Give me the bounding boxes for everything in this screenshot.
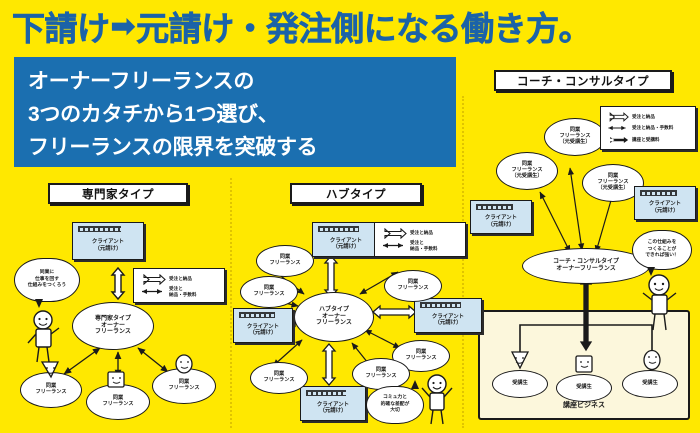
- hub-bubble-line3: 大切: [390, 408, 400, 414]
- hub-legend: 受注と納品 受注と 納品・手数料: [374, 222, 466, 257]
- hub-peer-node-6: 同業 フリーランス: [250, 362, 308, 394]
- infographic-page: 下請け➡元請け・発注側になる働き方。 オーナーフリーランスの 3つのカタチから1…: [0, 0, 700, 433]
- coach-legend-label-2: 受注と納品・手数料: [632, 125, 673, 131]
- coach-peer-3-line3: （元受講生）: [597, 186, 628, 192]
- section-chip-expert: 専門家タイプ: [48, 183, 188, 204]
- expert-stick-figure-icon: [26, 310, 66, 368]
- hub-peer-5-line2: フリーランス: [365, 374, 396, 380]
- section-divider-right: [462, 96, 464, 428]
- solid-double-arrow-icon: [605, 135, 629, 145]
- expert-peer-1-line2: フリーランス: [35, 390, 66, 396]
- coach-client-right-line2: （元請け）: [652, 208, 679, 214]
- legend-row-line: 受注と納品・手数料: [605, 123, 691, 133]
- coach-legend-label-3: 講座と受講料: [632, 137, 660, 143]
- expert-peer-node-3: 同業 フリーランス: [152, 368, 216, 404]
- hub-center-line1: ハブタイプ: [319, 307, 349, 314]
- expert-peer-3-line2: フリーランス: [168, 386, 199, 392]
- hub-speech-bubble: コミュ力と 的確な差配が 大切: [366, 386, 424, 424]
- student-node-1: 受講生: [492, 370, 548, 398]
- expert-speech-bubble: 同業に 仕事を回す 仕組みをつくろう: [14, 258, 80, 302]
- expert-center-line1: 専門家タイプ: [95, 316, 131, 323]
- hub-peer-2-line2: フリーランス: [253, 292, 284, 298]
- coach-center-line2: オーナーフリーランス: [556, 266, 616, 273]
- section-divider-left: [230, 178, 232, 428]
- coach-client-left-line2: （元請け）: [488, 222, 515, 228]
- expert-peer-2-line2: フリーランス: [102, 402, 133, 408]
- hub-client-node-top: クライアント （元請け）: [312, 222, 380, 257]
- coach-peer-1-line3: （元受講生）: [559, 140, 590, 146]
- student-3-label: 受講生: [642, 381, 658, 387]
- hub-peer-3-line2: フリーランス: [397, 286, 428, 292]
- subtitle-line-1: オーナーフリーランスの: [28, 65, 444, 98]
- coach-bubble-line3: できれば強い！: [645, 253, 679, 259]
- coach-peer-node-2: 同業 フリーランス （元受講生）: [496, 152, 558, 190]
- hub-peer-node-3: 同業 フリーランス: [384, 270, 442, 302]
- subtitle-panel: オーナーフリーランスの 3つのカタチから1つ選び、 フリーランスの限界を突破する: [14, 57, 456, 167]
- expert-client-line2: （元請け）: [95, 246, 122, 252]
- student-node-2: 受講生: [556, 374, 612, 402]
- hub-stick-figure-icon: [418, 372, 456, 428]
- hub-client-node-right: クライアント （元請け）: [414, 298, 482, 333]
- hub-client-right-line2: （元請け）: [435, 320, 462, 326]
- hub-peer-node-2: 同業 フリーランス: [240, 276, 298, 308]
- coach-legend: 受注と納品 受注と納品・手数料 講座と受講料: [600, 106, 696, 150]
- expert-client-node: クライアント （元請け）: [72, 222, 144, 260]
- legend-row-solid: 講座と受講料: [605, 135, 691, 145]
- subtitle-line-2: 3つのカタチから1つ選び、: [28, 98, 444, 131]
- course-business-label: 講座ビジネス: [478, 400, 690, 410]
- arrow-coach-peer2: [570, 168, 582, 250]
- coach-stick-figure-icon: [638, 272, 680, 334]
- section-chip-coach: コーチ・コンサルタイプ: [494, 70, 672, 91]
- hub-center-line3: フリーランス: [316, 320, 352, 327]
- coach-center-node: コーチ・コンサルタイプ オーナーフリーランス: [522, 248, 650, 284]
- hub-peer-4-line2: フリーランス: [405, 356, 436, 362]
- hub-client-node-bottom: クライアント （元請け）: [300, 386, 366, 421]
- expert-bubble-line3: 仕組みをつくろう: [28, 283, 66, 289]
- arrow-expert-peer3: [138, 348, 168, 372]
- student-1-label: 受講生: [512, 381, 528, 387]
- coach-peer-node-1: 同業 フリーランス （元受講生）: [544, 118, 606, 156]
- legend-label-1: 受注と納品: [410, 230, 433, 236]
- student-node-3: 受講生: [622, 370, 678, 398]
- coach-client-node-left: クライアント （元請け）: [470, 200, 532, 234]
- expert-legend: 受注と納品 受注と 納品・手数料: [133, 268, 225, 303]
- hollow-double-arrow-icon: [605, 112, 629, 122]
- legend-row-line: 受注と 納品・手数料: [138, 286, 220, 297]
- subtitle-line-3: フリーランスの限界を突破する: [28, 131, 444, 164]
- arrow-hub-peer4: [365, 330, 400, 348]
- line-double-arrow-icon: [605, 123, 629, 133]
- coach-client-node-right: クライアント （元請け）: [634, 186, 696, 220]
- legend-row-hollow: 受注と納品: [379, 228, 461, 239]
- hub-center-node: ハブタイプ オーナー フリーランス: [294, 292, 374, 342]
- bubble-tail-icon: [35, 299, 43, 308]
- hub-client-top-line2: （元請け）: [333, 244, 360, 250]
- page-title: 下請け➡元請け・発注側になる働き方。: [12, 4, 692, 48]
- arrow-expert-peer1: [64, 348, 100, 374]
- expert-peer-node-2: 同業 フリーランス: [86, 384, 150, 420]
- hub-client-node-left: クライアント （元請け）: [233, 308, 293, 343]
- page-title-part2: 元請け・発注側になる働き方。: [136, 2, 591, 50]
- coach-center-line1: コーチ・コンサルタイプ: [553, 259, 619, 266]
- hub-client-left-line2: （元請け）: [250, 330, 277, 336]
- legend-row-line: 受注と 納品・手数料: [379, 240, 461, 251]
- page-title-part1: 下請け: [12, 2, 110, 50]
- legend-label-1: 受注と納品: [169, 276, 192, 282]
- section-chip-hub: ハブタイプ: [290, 183, 422, 204]
- arrow-coach-peer1: [540, 192, 570, 252]
- legend-row-hollow: 受注と納品: [605, 112, 691, 122]
- arrow-expert-client-center: [112, 268, 124, 299]
- hub-peer-node-1: 同業 フリーランス: [256, 245, 314, 277]
- hollow-double-arrow-icon: [138, 274, 166, 285]
- coach-peer-2-line3: （元受講生）: [511, 174, 542, 180]
- expert-center-line3: フリーランス: [95, 329, 131, 336]
- legend-label-2: 受注と 納品・手数料: [169, 286, 197, 297]
- student-2-label: 受講生: [576, 385, 592, 391]
- line-double-arrow-icon: [379, 240, 407, 251]
- expert-peer-node-1: 同業 フリーランス: [20, 372, 82, 408]
- hub-client-bottom-line2: （元請け）: [320, 408, 347, 414]
- legend-label-2: 受注と 納品・手数料: [410, 240, 438, 251]
- expert-center-node: 専門家タイプ オーナー フリーランス: [72, 302, 154, 350]
- line-double-arrow-icon: [138, 286, 166, 297]
- coach-legend-label-1: 受注と納品: [632, 114, 655, 120]
- legend-row-hollow: 受注と納品: [138, 274, 220, 285]
- hollow-double-arrow-icon: [379, 228, 407, 239]
- hub-peer-6-line2: フリーランス: [263, 378, 294, 384]
- coach-speech-bubble: この仕組みを つくることが できれば強い！: [632, 230, 692, 270]
- right-arrow-icon: ➡: [110, 9, 137, 44]
- hub-peer-1-line2: フリーランス: [269, 261, 300, 267]
